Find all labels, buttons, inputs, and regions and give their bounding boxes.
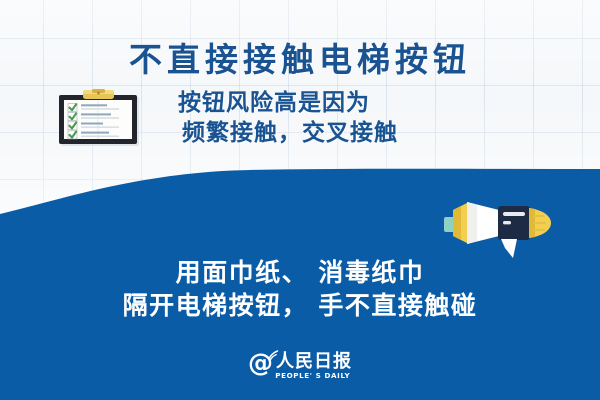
brand-name-cn: 人民日报 (276, 353, 352, 371)
brand-logo-inner: @ 人民日报 PEOPLE' S DAILY (248, 352, 352, 380)
at-symbol-icon: @ (248, 352, 273, 374)
subtitle-line-1: 按钮风险高是因为 (178, 88, 588, 118)
brand-logo-text: 人民日报 PEOPLE' S DAILY (276, 352, 352, 380)
poster-canvas: 不直接接触电梯按钮 (0, 0, 600, 400)
page-title: 不直接接触电梯按钮 (0, 33, 600, 81)
subtitle-line-2: 频繁接触，交叉接触 (178, 118, 588, 148)
main-message-block: 用面巾纸、 消毒纸巾 隔开电梯按钮， 手不直接触碰 (0, 256, 600, 322)
megaphone-icon (443, 192, 555, 258)
main-message-line-2: 隔开电梯按钮， 手不直接触碰 (0, 289, 600, 322)
clipboard-checklist-icon (57, 89, 143, 147)
subtitle-block: 按钮风险高是因为 频繁接触，交叉接触 (178, 88, 588, 148)
wifi-arcs-icon (266, 348, 280, 362)
brand-logo: @ 人民日报 PEOPLE' S DAILY (0, 352, 600, 380)
main-message-line-1: 用面巾纸、 消毒纸巾 (0, 256, 600, 289)
brand-name-en: PEOPLE' S DAILY (275, 373, 353, 380)
